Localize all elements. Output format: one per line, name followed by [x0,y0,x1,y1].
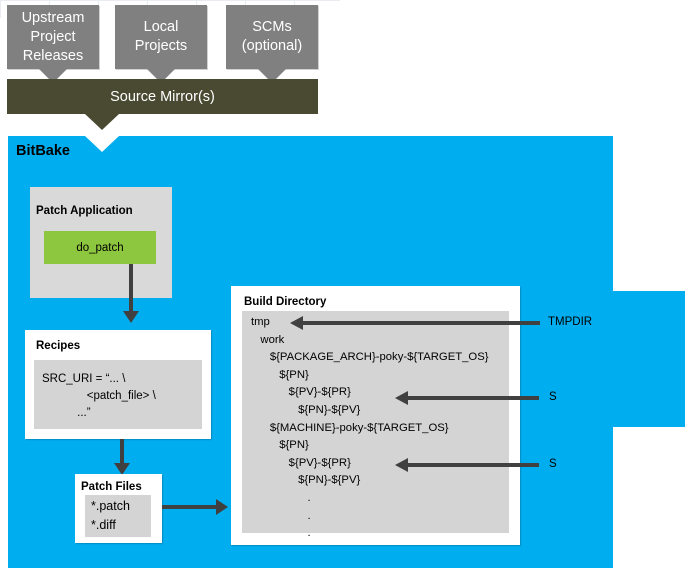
bitbake-title: BitBake [16,143,70,159]
arrow-patch-files-to-build-dir-head [216,499,228,515]
callout-s-lower-arrowhead [395,458,408,472]
diagram-canvas: Upstream Project Releases Local Projects… [0,0,685,576]
bitbake-region-top-notch [85,136,119,152]
build-directory-heading: Build Directory [244,296,326,308]
callout-s-upper-line [401,396,539,400]
callout-tmpdir-arrowhead [290,316,303,330]
recipes-heading: Recipes [36,340,80,352]
source-mirror-down-notch [85,114,119,130]
source-box-scms-optional: SCMs (optional) [226,5,318,69]
patch-application-heading: Patch Application [36,205,133,217]
callout-s-lower-label: S [549,458,557,470]
source-box-label: Upstream Project Releases [22,9,85,66]
recipes-src-uri-text: SRC_URI = “... \ <patch_file> \ ...” [42,371,156,422]
arrow-patch-files-to-build-dir-line [162,505,218,509]
source-box-upstream-project-releases: Upstream Project Releases [7,5,99,69]
callout-s-upper-label: S [549,391,557,403]
source-mirror-bar: Source Mirror(s) [7,79,318,114]
arrow-do-patch-to-recipes-line [129,264,133,312]
source-box-label: Local Projects [135,18,187,56]
patch-files-heading: Patch Files [81,481,142,493]
do-patch-task: do_patch [44,231,156,264]
source-mirror-label: Source Mirror(s) [110,89,215,105]
callout-s-upper-arrowhead [395,391,408,405]
source-box-label: SCMs (optional) [242,18,302,56]
patch-files-entries: *.patch *.diff [91,497,130,535]
source-box-local-projects: Local Projects [115,5,207,69]
callout-tmpdir-label: TMPDIR [548,316,592,328]
arrow-do-patch-to-recipes-head [123,311,139,323]
callout-tmpdir-line [296,321,540,325]
do-patch-label: do_patch [76,242,123,254]
callout-s-lower-line [401,463,539,467]
build-directory-tree: tmp work ${PACKAGE_ARCH}-poky-${TARGET_O… [251,314,489,543]
